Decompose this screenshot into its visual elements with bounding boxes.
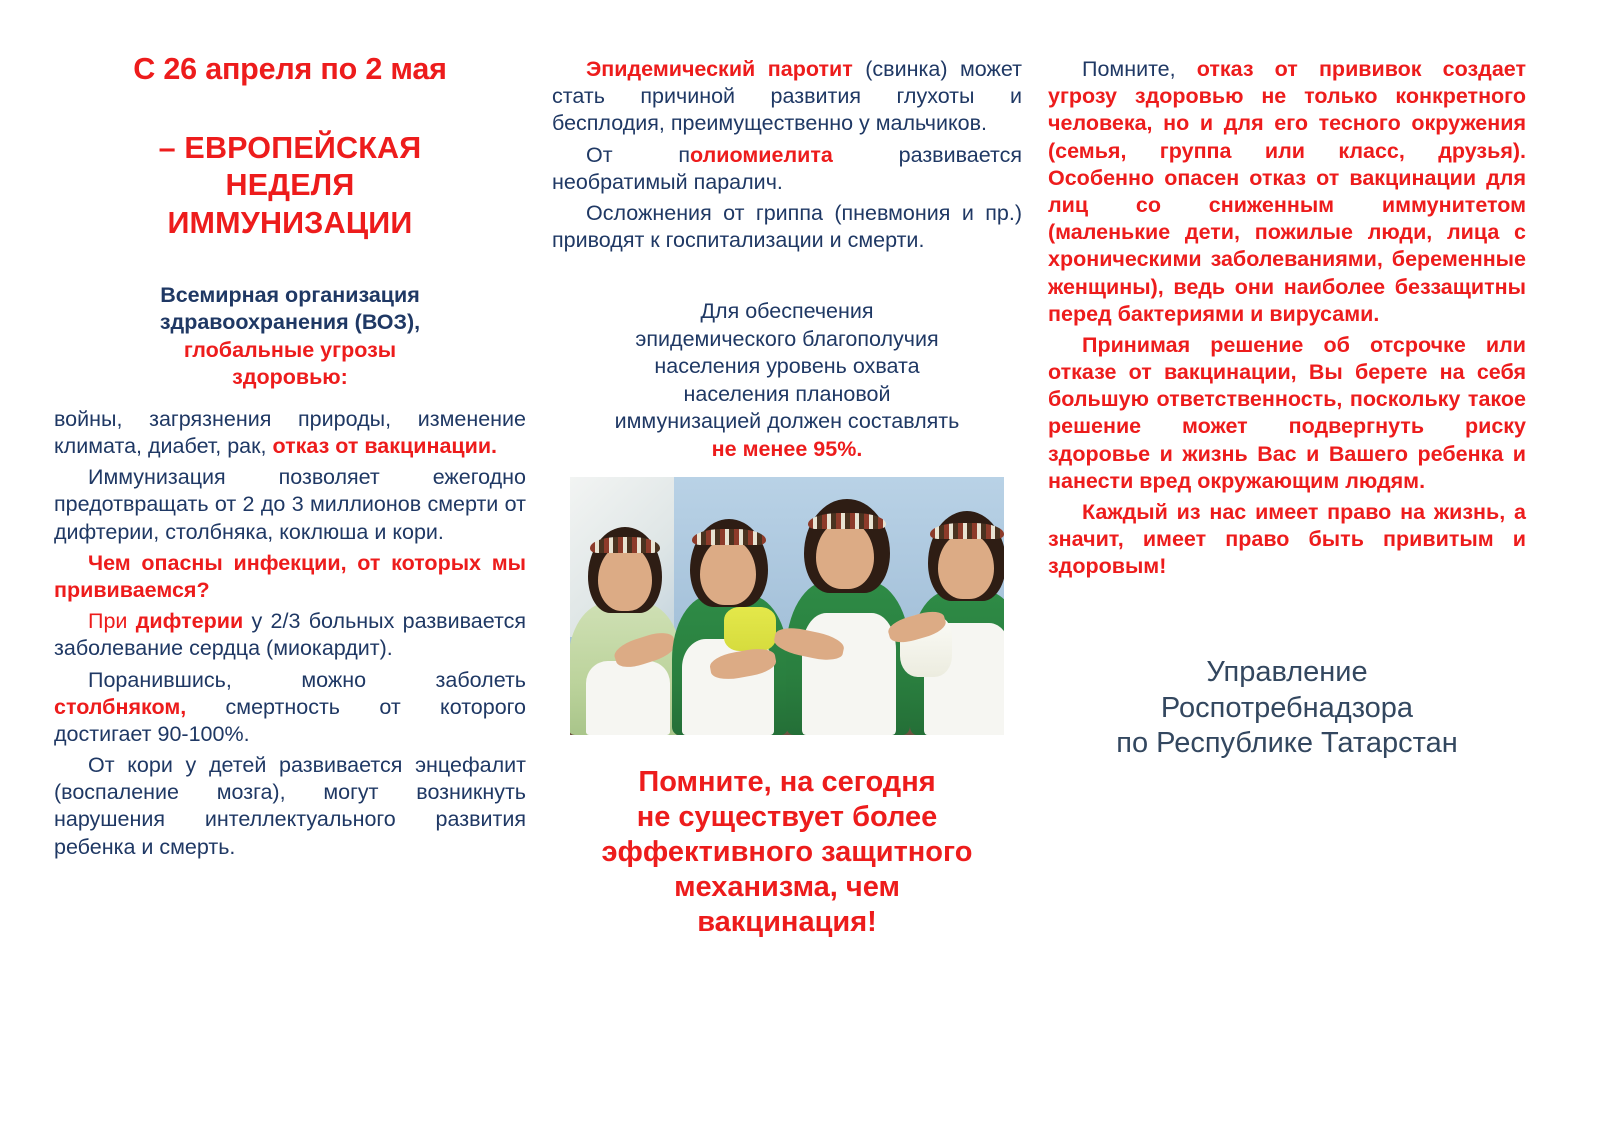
polio-lead: От п <box>586 143 690 167</box>
tetanus-term: столбняком, <box>54 695 186 719</box>
paragraph-mumps: Эпидемический паротит (свинка) может ста… <box>552 56 1022 138</box>
photo-girl-2-headband <box>692 529 766 545</box>
headline-title: – ЕВРОПЕЙСКАЯ НЕДЕЛЯ ИММУНИЗАЦИИ <box>54 130 526 242</box>
column-center: Эпидемический паротит (свинка) может ста… <box>552 46 1022 1111</box>
photo-girl-1-face <box>598 545 652 611</box>
coverage-note-line-2: эпидемического благополучия <box>552 326 1022 354</box>
paragraph-diphtheria: При дифтерии у 2/3 больных развивается з… <box>54 608 526 662</box>
diphtheria-lead: При <box>88 609 136 633</box>
who-heading-red-line-2: здоровью: <box>54 364 526 392</box>
paragraph-global-threats: войны, загрязнения природы, изменение кл… <box>54 406 526 460</box>
who-heading-red-line-1: глобальные угрозы <box>54 337 526 365</box>
photo-girl-3 <box>782 497 914 735</box>
paragraph-responsibility: Принимая решение об отсрочке или отказе … <box>1048 332 1526 495</box>
coverage-note-line-5: иммунизацией должен составлять <box>552 408 1022 436</box>
headline-title-line-3: ИММУНИЗАЦИИ <box>54 205 526 242</box>
photo-girl-3-headband <box>808 513 886 529</box>
photo-girl-4-face <box>938 533 994 599</box>
column-right-spacer <box>1048 762 1526 1111</box>
column-left: С 26 апреля по 2 мая – ЕВРОПЕЙСКАЯ НЕДЕЛ… <box>54 46 526 1111</box>
coverage-note-line-3: населения уровень охвата <box>552 353 1022 381</box>
coverage-note-threshold: не менее 95%. <box>552 436 1022 464</box>
photo-girl-2-yellow-sleeve <box>724 607 776 651</box>
paragraph-influenza: Осложнения от гриппа (пневмония и пр.) п… <box>552 200 1022 254</box>
paragraph-refusal-risk: Помните, отказ от прививок создает угроз… <box>1048 56 1526 328</box>
slogan-line-4: механизма, чем <box>552 870 1022 905</box>
tetanus-lead: Поранившись, можно заболеть <box>88 668 526 692</box>
photo-girl-1-headband <box>590 537 660 553</box>
paragraph-tetanus: Поранившись, можно заболеть столбняком, … <box>54 667 526 749</box>
column-left-spacer <box>54 861 526 1111</box>
threats-vaccine-refusal: отказ от вакцинации. <box>273 434 498 458</box>
refusal-risk-body: отказ от прививок создает угрозу здоровь… <box>1048 57 1526 326</box>
photo-girl-2 <box>668 515 792 735</box>
headline-date: С 26 апреля по 2 мая <box>54 52 526 86</box>
slogan-vaccination: Помните, на сегодня не существует более … <box>552 765 1022 939</box>
footer-line-1: Управление <box>1048 655 1526 691</box>
diphtheria-term: дифтерии <box>136 609 243 633</box>
photo-girl-4-headband <box>930 523 1004 539</box>
footer-line-3: по Республике Татарстан <box>1048 726 1526 762</box>
footer-organization: Управление Роспотребнадзора по Республик… <box>1048 655 1526 763</box>
paragraph-immunization-prevents: Иммунизация позволяет ежегодно предотвра… <box>54 464 526 546</box>
coverage-note-line-4: населения плановой <box>552 381 1022 409</box>
polio-term: олиомиелита <box>690 143 833 167</box>
photo-girl-1-apron <box>586 661 670 735</box>
photo-girl-3-face <box>816 521 874 589</box>
brochure-page: С 26 апреля по 2 мая – ЕВРОПЕЙСКАЯ НЕДЕЛ… <box>0 0 1600 1131</box>
who-heading-line-2: здравоохранения (ВОЗ), <box>54 309 526 337</box>
photo-girl-4 <box>906 509 1004 735</box>
mumps-term: Эпидемический паротит <box>586 57 853 81</box>
paragraph-measles: От кори у детей развивается энцефалит (в… <box>54 752 526 861</box>
photo-girl-2-face <box>700 539 756 605</box>
who-heading: Всемирная организация здравоохранения (В… <box>54 282 526 392</box>
slogan-line-5: вакцинация! <box>552 905 1022 940</box>
photo-children-vaccination <box>570 477 1004 735</box>
slogan-line-3: эффективного защитного <box>552 835 1022 870</box>
photo-container <box>552 477 1022 735</box>
footer-line-2: Роспотребнадзора <box>1048 691 1526 727</box>
coverage-note-line-1: Для обеспечения <box>552 298 1022 326</box>
slogan-line-2: не существует более <box>552 800 1022 835</box>
paragraph-polio: От полиомиелита развивается необратимый … <box>552 142 1022 196</box>
headline-title-line-2: НЕДЕЛЯ <box>54 167 526 204</box>
coverage-note: Для обеспечения эпидемического благополу… <box>552 298 1022 463</box>
column-right: Помните, отказ от прививок создает угроз… <box>1048 46 1526 1111</box>
refusal-risk-lead: Помните, <box>1082 57 1197 81</box>
column-center-spacer <box>552 939 1022 1111</box>
paragraph-right-to-life: Каждый из нас имеет право на жизнь, а зн… <box>1048 499 1526 581</box>
headline-title-line-1: – ЕВРОПЕЙСКАЯ <box>54 130 526 167</box>
slogan-line-1: Помните, на сегодня <box>552 765 1022 800</box>
paragraph-infection-danger-question: Чем опасны инфекции, от которых мы приви… <box>54 550 526 604</box>
who-heading-line-1: Всемирная организация <box>54 282 526 310</box>
